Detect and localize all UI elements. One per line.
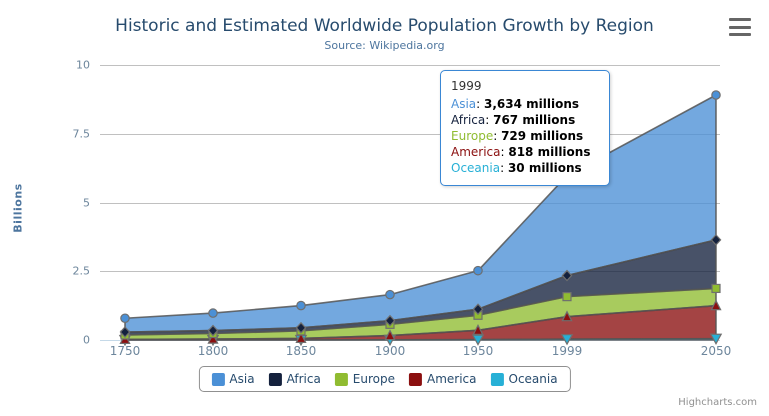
legend-swatch-icon (211, 373, 224, 386)
x-axis-tick-1850: 1850 (286, 344, 317, 358)
tooltip-separator: : (500, 161, 508, 175)
tooltip: 1999 Asia: 3,634 millionsAfrica: 767 mil… (440, 70, 610, 186)
legend-item-america[interactable]: America (409, 372, 477, 386)
data-point-asia-1800[interactable] (209, 309, 217, 317)
tooltip-value: 30 millions (508, 161, 582, 175)
legend-swatch-icon (491, 373, 504, 386)
x-axis-tick-1750: 1750 (110, 344, 141, 358)
tooltip-key: Oceania (451, 161, 500, 175)
hamburger-menu-icon[interactable] (729, 18, 751, 36)
legend-label: Oceania (509, 372, 558, 386)
y-axis-tick-4: 10 (76, 59, 90, 72)
y-axis: Billions 10 7.5 5 2.5 0 (0, 0, 100, 416)
series-areas (100, 65, 720, 340)
tooltip-value: 3,634 millions (484, 97, 579, 111)
legend-item-asia[interactable]: Asia (211, 372, 254, 386)
y-axis-title: Billions (12, 183, 25, 232)
legend-label: Europe (353, 372, 395, 386)
data-point-europe-1999[interactable] (563, 293, 571, 301)
chart-subtitle: Source: Wikipedia.org (0, 39, 769, 52)
data-point-asia-1950[interactable] (474, 266, 482, 274)
tooltip-row-america: America: 818 millions (451, 144, 599, 160)
legend-swatch-icon (409, 373, 422, 386)
legend-swatch-icon (269, 373, 282, 386)
legend-label: Asia (229, 372, 254, 386)
credits-label[interactable]: Highcharts.com (678, 397, 757, 408)
x-axis-tick-1800: 1800 (198, 344, 229, 358)
menu-bar-2 (729, 26, 751, 29)
data-point-asia-1850[interactable] (297, 301, 305, 309)
y-axis-tick-0: 0 (83, 334, 90, 347)
tooltip-row-europe: Europe: 729 millions (451, 128, 599, 144)
legend-item-oceania[interactable]: Oceania (491, 372, 558, 386)
tooltip-value: 729 millions (501, 129, 583, 143)
tooltip-header: 1999 (451, 78, 599, 96)
legend-swatch-icon (335, 373, 348, 386)
tooltip-separator: : (476, 97, 484, 111)
data-point-asia-1750[interactable] (121, 314, 129, 322)
tooltip-rows: Asia: 3,634 millionsAfrica: 767 millions… (451, 96, 599, 176)
y-axis-tick-1: 2.5 (73, 265, 91, 278)
x-axis-tick-2050: 2050 (701, 344, 732, 358)
chart-title: Historic and Estimated Worldwide Populat… (0, 16, 769, 36)
tooltip-key: Asia (451, 97, 476, 111)
plot-area (100, 65, 720, 340)
menu-bar-1 (729, 18, 751, 21)
tooltip-row-asia: Asia: 3,634 millions (451, 96, 599, 112)
legend-label: America (427, 372, 477, 386)
x-axis-tick-1999: 1999 (552, 344, 583, 358)
legend-label: Africa (287, 372, 321, 386)
legend: AsiaAfricaEuropeAmericaOceania (198, 366, 570, 392)
tooltip-key: Europe (451, 129, 493, 143)
data-point-asia-2050[interactable] (712, 91, 720, 99)
tooltip-separator: : (485, 113, 493, 127)
legend-item-europe[interactable]: Europe (335, 372, 395, 386)
tooltip-key: America (451, 145, 501, 159)
y-axis-tick-2: 5 (83, 196, 90, 209)
tooltip-separator: : (493, 129, 501, 143)
x-axis-tick-1900: 1900 (375, 344, 406, 358)
menu-bar-3 (729, 33, 751, 36)
tooltip-key: Africa (451, 113, 485, 127)
tooltip-row-oceania: Oceania: 30 millions (451, 160, 599, 176)
tooltip-row-africa: Africa: 767 millions (451, 112, 599, 128)
highcharts-container: Historic and Estimated Worldwide Populat… (0, 0, 769, 416)
legend-item-africa[interactable]: Africa (269, 372, 321, 386)
data-point-asia-1900[interactable] (386, 290, 394, 298)
data-point-europe-2050[interactable] (712, 284, 720, 292)
tooltip-value: 818 millions (508, 145, 590, 159)
x-axis-tick-1950: 1950 (463, 344, 494, 358)
y-axis-tick-3: 7.5 (73, 127, 91, 140)
tooltip-value: 767 millions (493, 113, 575, 127)
